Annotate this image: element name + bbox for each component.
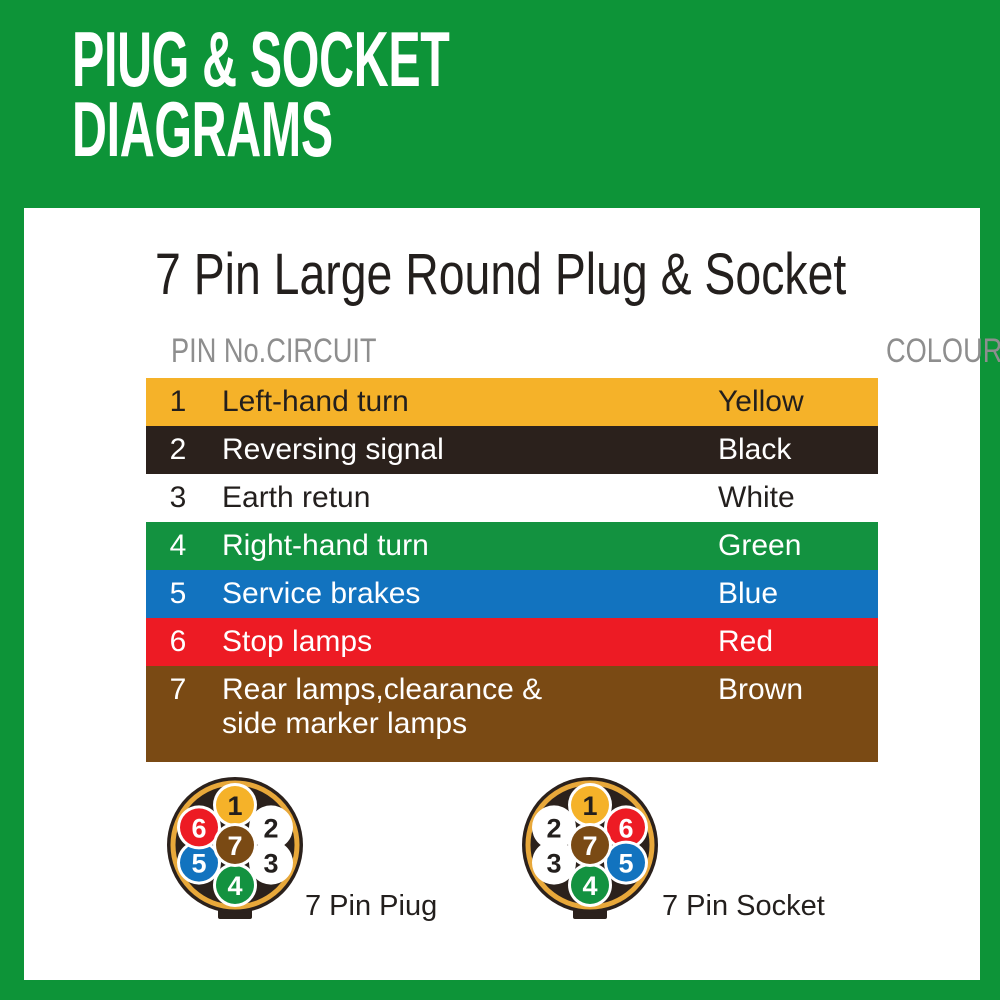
circuit-description: Right-hand turn bbox=[222, 529, 429, 563]
pin-number: 7 bbox=[165, 673, 191, 707]
content-card: 7 Pin Large Round Plug & Socket PIN No.C… bbox=[24, 208, 980, 980]
wire-colour: Red bbox=[718, 625, 773, 659]
pin-label: 5 bbox=[191, 849, 206, 879]
pin-label: 6 bbox=[618, 813, 633, 843]
circuit-description: Reversing signal bbox=[222, 433, 444, 467]
pin-label: 2 bbox=[263, 813, 278, 843]
wire-colour: Blue bbox=[718, 577, 778, 611]
pin-number: 6 bbox=[165, 625, 191, 659]
circuit-description: Service brakes bbox=[222, 577, 420, 611]
pin-label: 3 bbox=[263, 849, 278, 879]
pin-label: 6 bbox=[191, 813, 206, 843]
wire-colour: Green bbox=[718, 529, 801, 563]
pin-label: 5 bbox=[618, 849, 633, 879]
circuit-description: Earth retun bbox=[222, 481, 370, 515]
column-header-colour: COLOUR bbox=[886, 334, 1000, 368]
pin-number: 5 bbox=[165, 577, 191, 611]
socket-svg: 1654327 bbox=[510, 773, 670, 948]
pin-label: 4 bbox=[227, 871, 242, 901]
table-row: 5Service brakesBlue bbox=[146, 570, 878, 618]
pin-label: 4 bbox=[582, 871, 597, 901]
column-header-pin-circuit: PIN No.CIRCUIT bbox=[171, 334, 377, 368]
table-row: 2Reversing signalBlack bbox=[146, 426, 878, 474]
wire-colour: Yellow bbox=[718, 385, 804, 419]
pin-number: 4 bbox=[165, 529, 191, 563]
wire-colour: Brown bbox=[718, 673, 803, 707]
pin-7: 7 bbox=[568, 823, 612, 867]
wire-colour: Black bbox=[718, 433, 791, 467]
table-row: 6Stop lampsRed bbox=[146, 618, 878, 666]
circuit-description: Stop lamps bbox=[222, 625, 372, 659]
pin-number: 1 bbox=[165, 385, 191, 419]
pin-label: 7 bbox=[227, 831, 242, 861]
section-subtitle: 7 Pin Large Round Plug & Socket bbox=[155, 246, 846, 304]
header-band: PIUG & SOCKET DIAGRAMS bbox=[0, 0, 1000, 208]
pin-label: 2 bbox=[546, 813, 561, 843]
circuit-description: Rear lamps,clearance & side marker lamps bbox=[222, 673, 542, 741]
socket-diagram: 1654327 bbox=[510, 773, 670, 948]
table-row: 7Rear lamps,clearance & side marker lamp… bbox=[146, 666, 878, 762]
pin-number: 2 bbox=[165, 433, 191, 467]
circuit-description: Left-hand turn bbox=[222, 385, 409, 419]
pin-table: PIN No.CIRCUIT COLOUR 1Left-hand turnYel… bbox=[146, 334, 878, 762]
plug-svg: 1234567 bbox=[155, 773, 315, 948]
table-row: 1Left-hand turnYellow bbox=[146, 378, 878, 426]
table-body: 1Left-hand turnYellow2Reversing signalBl… bbox=[146, 378, 878, 762]
pin-7: 7 bbox=[213, 823, 257, 867]
pin-number: 3 bbox=[165, 481, 191, 515]
plug-diagram: 1234567 bbox=[155, 773, 315, 948]
socket-caption: 7 Pin Socket bbox=[662, 890, 825, 922]
plug-caption: 7 Pin Piug bbox=[305, 890, 437, 922]
pin-label: 3 bbox=[546, 849, 561, 879]
page-title: PIUG & SOCKET DIAGRAMS bbox=[72, 24, 605, 164]
pin-label: 7 bbox=[582, 831, 597, 861]
pin-label: 1 bbox=[227, 791, 242, 821]
table-header-row: PIN No.CIRCUIT COLOUR bbox=[146, 334, 878, 378]
connector-diagrams: 1234567 1654327 7 Pin Piug 7 Pin Socket bbox=[24, 773, 980, 973]
wire-colour: White bbox=[718, 481, 795, 515]
table-row: 4Right-hand turnGreen bbox=[146, 522, 878, 570]
wiring-diagram-page: PIUG & SOCKET DIAGRAMS 7 Pin Large Round… bbox=[0, 0, 1000, 1000]
table-row: 3Earth retunWhite bbox=[146, 474, 878, 522]
pin-label: 1 bbox=[582, 791, 597, 821]
